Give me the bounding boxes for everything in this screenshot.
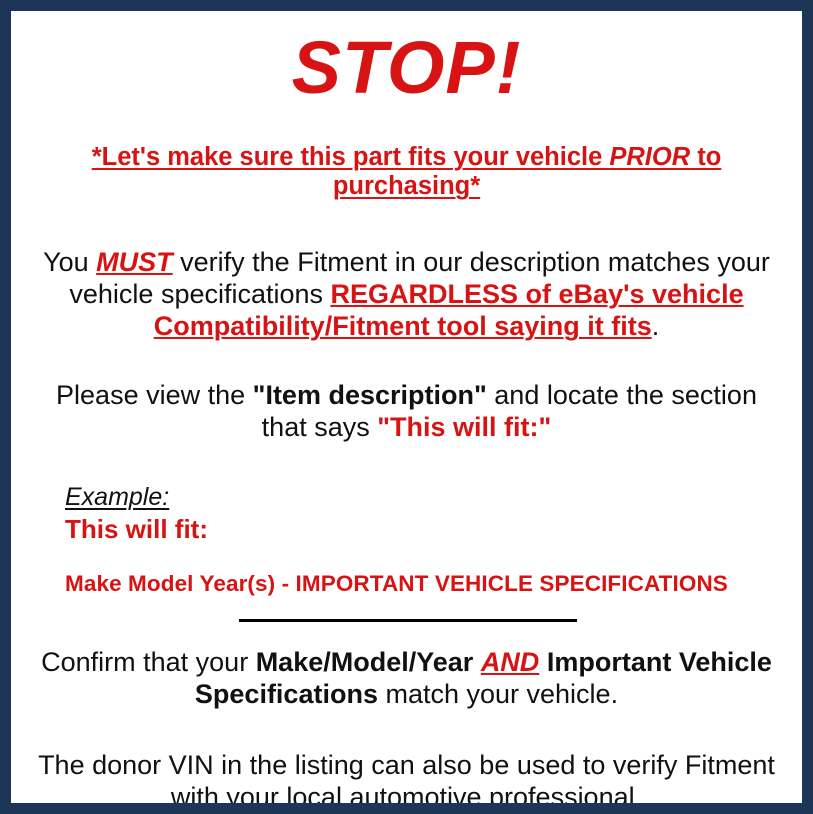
make-model-year-emphasis: Make/Model/Year — [256, 647, 474, 677]
must-text-part1: You — [43, 247, 96, 277]
example-fit-heading: This will fit: — [65, 515, 796, 545]
item-description-emphasis: "Item description" — [253, 380, 487, 410]
page-title: STOP! — [17, 31, 796, 105]
confirm-paragraph: Confirm that your Make/Model/Year AND Im… — [17, 646, 796, 711]
and-emphasis: AND — [481, 647, 540, 677]
confirm-text-part3 — [539, 647, 547, 677]
notice-body: STOP! *Let's make sure this part fits yo… — [11, 11, 802, 803]
view-text-part1: Please view the — [56, 380, 253, 410]
this-will-fit-emphasis: "This will fit:" — [377, 412, 551, 442]
section-divider-row — [17, 619, 796, 622]
subtitle-emphasis-prior: PRIOR — [609, 143, 690, 171]
subtitle-lead-text: *Let's make sure this part fits your veh… — [92, 143, 610, 171]
notice-subtitle: *Let's make sure this part fits your veh… — [17, 143, 796, 202]
must-verify-paragraph: You MUST verify the Fitment in our descr… — [17, 246, 796, 343]
confirm-text-part2 — [473, 647, 481, 677]
must-text-part3: . — [652, 311, 660, 341]
confirm-text-part1: Confirm that your — [41, 647, 256, 677]
example-label: Example: — [65, 484, 169, 512]
example-section: Example: This will fit: Make Model Year(… — [17, 484, 796, 597]
section-divider — [239, 619, 577, 622]
item-description-paragraph: Please view the "Item description" and l… — [17, 379, 796, 444]
example-spec-line: Make Model Year(s) - IMPORTANT VEHICLE S… — [65, 571, 796, 597]
must-emphasis: MUST — [96, 247, 173, 277]
donor-vin-paragraph: The donor VIN in the listing can also be… — [17, 749, 796, 814]
fitment-notice-poster: STOP! *Let's make sure this part fits yo… — [0, 0, 813, 814]
confirm-text-part4: match your vehicle. — [378, 679, 618, 709]
